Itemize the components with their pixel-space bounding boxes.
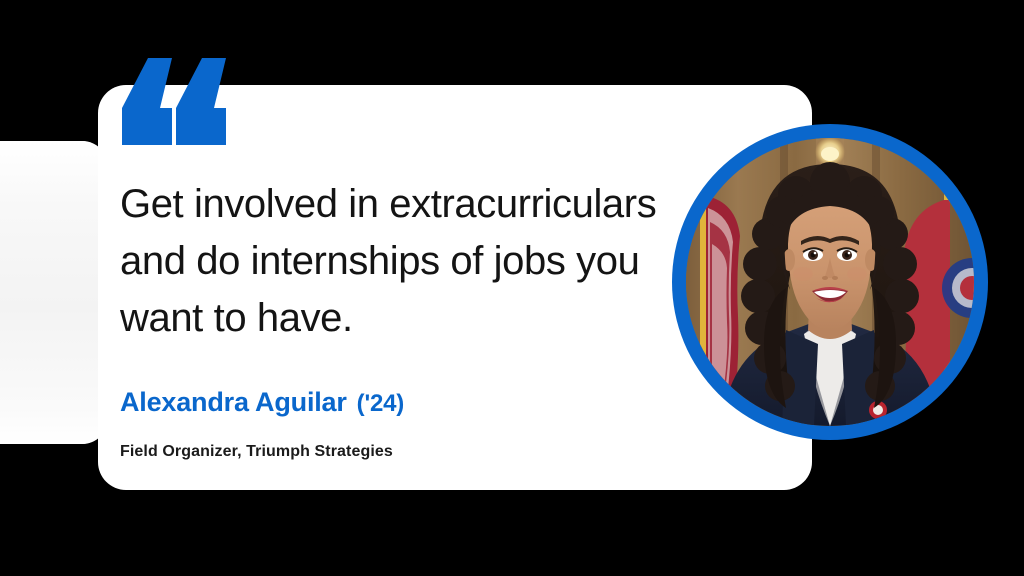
slide-canvas: Get involved in extracurriculars and do … — [0, 0, 1024, 576]
attribution-name: Alexandra Aguilar — [120, 387, 347, 417]
attribution-line: Alexandra Aguilar('24) — [120, 387, 404, 418]
portrait-photo — [686, 138, 974, 426]
attribution-role: Field Organizer, Triumph Strategies — [120, 443, 393, 461]
quote-text: Get involved in extracurriculars and do … — [120, 176, 676, 347]
background-card-layer — [0, 141, 108, 444]
attribution-class-year: ('24) — [357, 390, 404, 417]
portrait-avatar — [672, 124, 988, 440]
quote-text-block: Get involved in extracurriculars and do … — [120, 176, 676, 347]
background-card-surface — [0, 141, 108, 444]
